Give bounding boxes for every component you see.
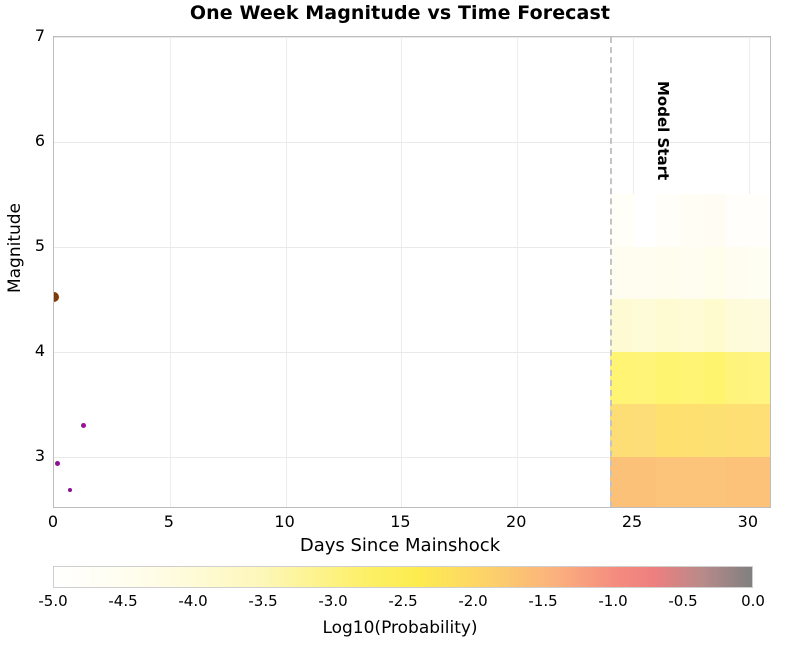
heatmap-cell	[633, 404, 657, 457]
colorbar-tick-label: -1.0	[578, 592, 648, 610]
heatmap-cell	[656, 247, 680, 300]
x-tick-label: 15	[370, 512, 430, 531]
colorbar-tick-label: -3.5	[228, 592, 298, 610]
heatmap-cell	[656, 457, 680, 508]
y-tick-label: 7	[0, 26, 45, 45]
heatmap-cell	[610, 299, 634, 352]
chart-title: One Week Magnitude vs Time Forecast	[0, 2, 800, 24]
heatmap-cell	[610, 352, 634, 405]
heatmap-cell	[633, 299, 657, 352]
x-tick-label: 0	[23, 512, 83, 531]
heatmap-cell	[703, 247, 727, 300]
heatmap-cell	[679, 299, 703, 352]
y-tick-label: 6	[0, 131, 45, 150]
colorbar-tick-label: -2.0	[438, 592, 508, 610]
heatmap-cell	[679, 457, 703, 508]
heatmap-cell	[726, 352, 750, 405]
heatmap-cell	[679, 352, 703, 405]
heatmap-cell	[633, 247, 657, 300]
colorbar-tick-label: -2.5	[368, 592, 438, 610]
heatmap-cell	[749, 194, 771, 247]
x-tick-label: 25	[602, 512, 662, 531]
colorbar-tick-label: -0.5	[648, 592, 718, 610]
scatter-point-aftershock	[55, 461, 60, 466]
heatmap-cell	[703, 457, 727, 508]
chart-figure: One Week Magnitude vs Time Forecast Mode…	[0, 0, 800, 650]
heatmap-cell	[749, 247, 771, 300]
heatmap-cell	[679, 247, 703, 300]
heatmap-cell	[679, 404, 703, 457]
heatmap-cell	[749, 404, 771, 457]
model-start-line	[610, 37, 612, 507]
plot-area: Model Start	[53, 36, 771, 508]
x-tick-label: 20	[486, 512, 546, 531]
colorbar-tick-label: -4.0	[158, 592, 228, 610]
y-axis-label: Magnitude	[5, 188, 25, 308]
heatmap-cell	[656, 352, 680, 405]
heatmap-cell	[703, 299, 727, 352]
heatmap-cell	[610, 247, 634, 300]
colorbar-label: Log10(Probability)	[0, 618, 800, 638]
heatmap-cell	[749, 299, 771, 352]
heatmap-cell	[656, 194, 680, 247]
x-tick-label: 10	[255, 512, 315, 531]
y-tick-label: 4	[0, 341, 45, 360]
heatmap-cell	[656, 299, 680, 352]
heatmap-cell	[749, 457, 771, 508]
colorbar-tick-label: -1.5	[508, 592, 578, 610]
x-tick-label: 30	[718, 512, 778, 531]
heatmap-cell	[726, 194, 750, 247]
heatmap-cell	[633, 457, 657, 508]
y-tick-label: 3	[0, 446, 45, 465]
model-start-label: Model Start	[654, 81, 672, 180]
heatmap-cell	[633, 194, 657, 247]
heatmap-cell	[726, 247, 750, 300]
heatmap-cell	[703, 194, 727, 247]
heatmap-cell	[726, 299, 750, 352]
x-tick-label: 5	[139, 512, 199, 531]
colorbar-tick-label: 0.0	[718, 592, 788, 610]
heatmap-cell	[703, 352, 727, 405]
colorbar-gradient	[54, 567, 752, 587]
scatter-point-aftershock	[81, 423, 86, 428]
x-axis-label: Days Since Mainshock	[0, 535, 800, 556]
colorbar-tick-label: -4.5	[88, 592, 158, 610]
heatmap-cell	[610, 457, 634, 508]
colorbar-tick-label: -3.0	[298, 592, 368, 610]
heatmap-cell	[703, 404, 727, 457]
heatmap-cell	[610, 404, 634, 457]
heatmap-cell	[610, 194, 634, 247]
colorbar	[53, 566, 753, 588]
heatmap-cell	[633, 352, 657, 405]
heatmap-cell	[656, 404, 680, 457]
heatmap-cell	[679, 194, 703, 247]
heatmap-cell	[726, 457, 750, 508]
heatmap-cell	[726, 404, 750, 457]
colorbar-tick-label: -5.0	[18, 592, 88, 610]
heatmap-cell	[749, 352, 771, 405]
